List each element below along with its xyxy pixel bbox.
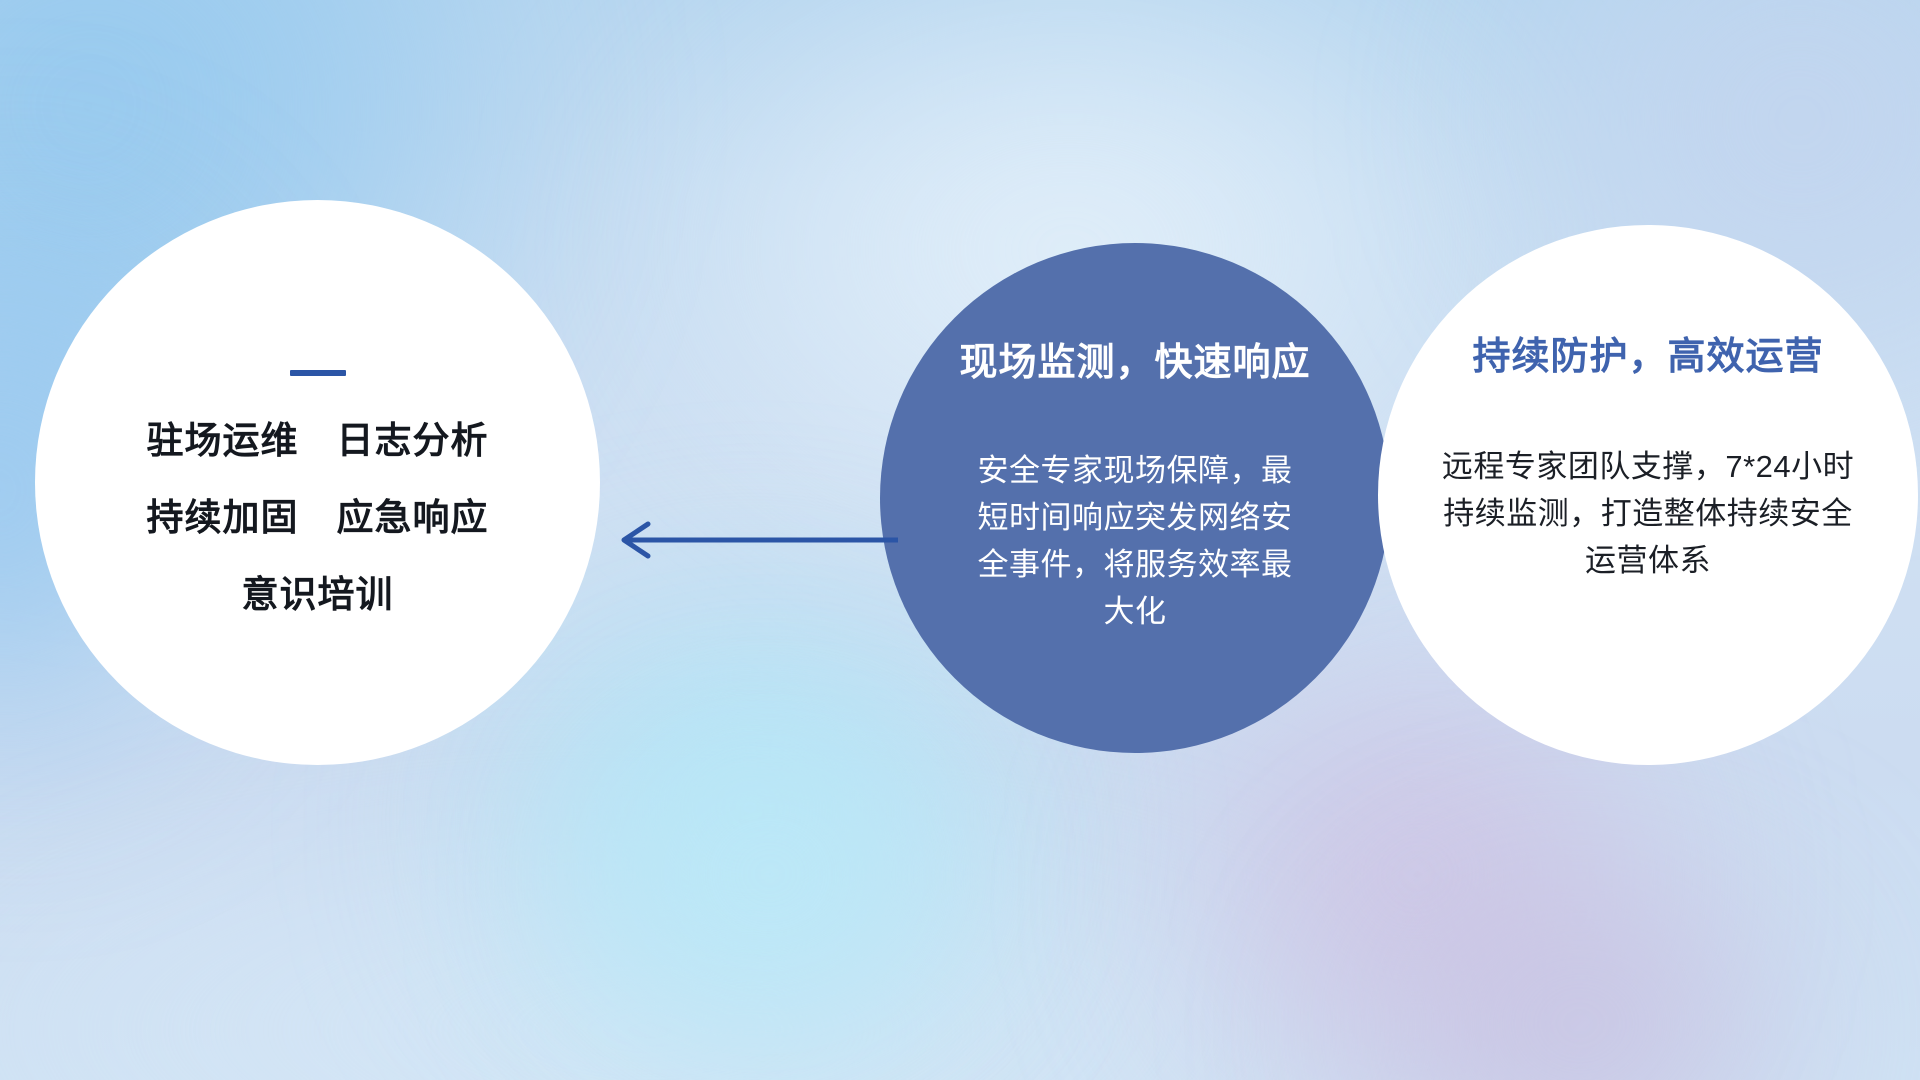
capability-line: 驻场运维 日志分析 — [147, 422, 489, 459]
background-blob-lavender-lower — [1300, 880, 1860, 1080]
circle-continuous-protection-body: 远程专家团队支撑，7*24小时持续监测，打造整体持续安全运营体系 — [1433, 443, 1863, 584]
background-blob-bottom-haze — [0, 820, 1400, 1080]
background-blob-cyan-lower — [560, 740, 980, 1040]
circle-capabilities-content: 驻场运维 日志分析 持续加固 应急响应 意识培训 — [35, 200, 600, 765]
circle-continuous-protection-title: 持续防护，高效运营 — [1472, 337, 1823, 379]
accent-rule-divider — [290, 370, 346, 376]
circle-continuous-protection: 持续防护，高效运营 远程专家团队支撑，7*24小时持续监测，打造整体持续安全运营… — [1378, 225, 1918, 765]
circle-capabilities: 驻场运维 日志分析 持续加固 应急响应 意识培训 — [35, 200, 600, 765]
arrow-left-icon — [600, 510, 900, 570]
circle-onsite-monitoring: 现场监测，快速响应 安全专家现场保障，最短时间响应突发网络安全事件，将服务效率最… — [880, 243, 1390, 753]
capability-line: 持续加固 应急响应 — [147, 499, 489, 536]
circle-continuous-protection-content: 持续防护，高效运营 远程专家团队支撑，7*24小时持续监测，打造整体持续安全运营… — [1378, 225, 1918, 765]
slide-canvas: 现场监测，快速响应 安全专家现场保障，最短时间响应突发网络安全事件，将服务效率最… — [0, 0, 1920, 1080]
circle-onsite-monitoring-body: 安全专家现场保障，最短时间响应突发网络安全事件，将服务效率最大化 — [970, 447, 1300, 635]
circle-onsite-monitoring-content: 现场监测，快速响应 安全专家现场保障，最短时间响应突发网络安全事件，将服务效率最… — [880, 243, 1390, 753]
circle-onsite-monitoring-title: 现场监测，快速响应 — [959, 343, 1310, 385]
capability-line: 意识培训 — [242, 576, 394, 613]
